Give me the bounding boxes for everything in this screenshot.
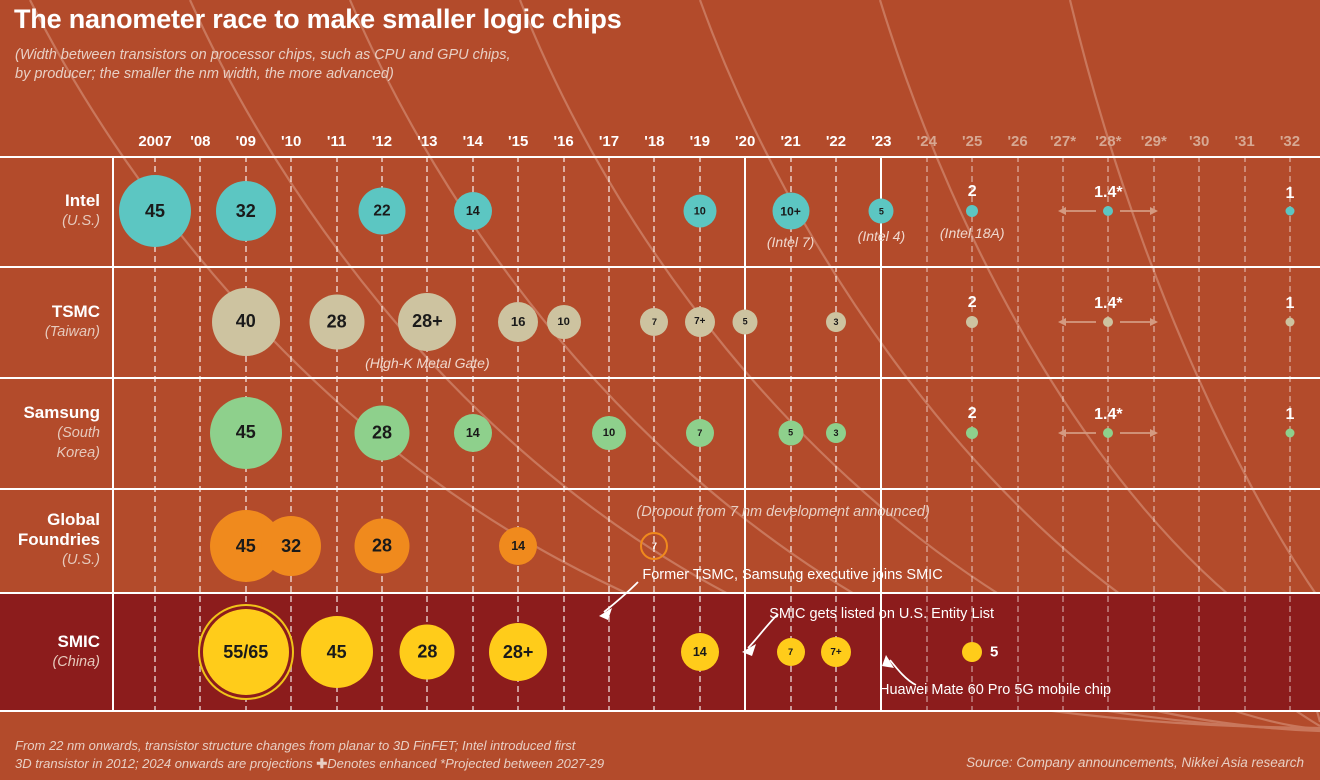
bubble-value: 7 — [652, 541, 657, 551]
bubble-value: 28 — [372, 536, 392, 557]
bubble-samsung-2025[interactable] — [966, 427, 978, 439]
row-label-intel: Intel(U.S.) — [0, 191, 100, 231]
year-tick-2014: '14 — [463, 133, 483, 150]
bubble-samsung-2021[interactable]: 5 — [778, 420, 803, 445]
bubble-value-top: 2 — [968, 183, 977, 201]
row-divider-3 — [0, 488, 1320, 490]
bubble-tsmc-2013[interactable]: 28+ — [398, 293, 456, 351]
gridline-2018 — [653, 156, 655, 712]
bubble-tsmc-2032[interactable] — [1286, 317, 1295, 326]
bubble-smic-2022[interactable]: 7+ — [821, 637, 851, 667]
year-tick-2020: '20 — [735, 133, 755, 150]
bubble-value: 28 — [417, 642, 437, 663]
source-credit: Source: Company announcements, Nikkei As… — [966, 755, 1304, 770]
year-axis: 2007'08'09'10'11'12'13'14'15'16'17'18'19… — [0, 133, 1320, 157]
bubble-value: 28 — [372, 422, 392, 443]
row-label-samsung: Samsung(SouthKorea) — [0, 403, 100, 463]
bubble-samsung-2032[interactable] — [1286, 428, 1295, 437]
bubble-smic-2011[interactable]: 45 — [301, 616, 373, 688]
producer-region: (Taiwan) — [0, 322, 100, 342]
year-tick-2013: '13 — [417, 133, 437, 150]
footnote-line-1: From 22 nm onwards, transistor structure… — [15, 737, 604, 755]
bubble-value: 7+ — [694, 316, 705, 327]
row-divider-2 — [0, 377, 1320, 379]
year-tick-2009: '09 — [236, 133, 256, 150]
year-tick-2024: '24 — [917, 133, 937, 150]
producer-region: (China) — [0, 652, 100, 672]
bubble-samsung-2017[interactable]: 10 — [592, 416, 626, 450]
bubble-caption: (Intel 7) — [767, 234, 814, 250]
row-divider-5 — [0, 710, 1320, 712]
bubble-value: 14 — [511, 539, 525, 553]
producer-region: Korea) — [0, 443, 100, 463]
page-title: The nanometer race to make smaller logic… — [14, 4, 622, 35]
bubble-samsung-2009[interactable]: 45 — [210, 397, 282, 469]
producer-region: (South — [0, 423, 100, 443]
bubble-tsmc-2011[interactable]: 28 — [309, 294, 364, 349]
subtitle-line-1: (Width between transistors on processor … — [15, 46, 511, 65]
bubble-caption: (Intel 18A) — [940, 225, 1005, 241]
bubble-value-top: 1.4* — [1094, 295, 1122, 313]
bubble-intel-2021[interactable]: 10+ — [772, 193, 809, 230]
year-tick-2027: '27* — [1050, 133, 1076, 150]
year-tick-2030: '30 — [1189, 133, 1209, 150]
gridline-2024 — [926, 156, 928, 712]
producer-name: Foundries — [0, 530, 100, 550]
bubble-tsmc-2009[interactable]: 40 — [212, 288, 280, 356]
annotation-entity-list: SMIC gets listed on U.S. Entity List — [769, 606, 994, 622]
producer-name: Samsung — [0, 403, 100, 423]
bubble-value: 28+ — [503, 642, 534, 663]
bubble-value: 55/65 — [223, 642, 268, 663]
bubble-global-foundries-2018[interactable]: 7 — [640, 532, 668, 560]
bubble-samsung-2028[interactable] — [1103, 428, 1113, 438]
year-tick-2010: '10 — [281, 133, 301, 150]
bubble-intel-2032[interactable] — [1286, 207, 1295, 216]
bubble-global-foundries-2010[interactable]: 32 — [261, 516, 321, 576]
bubble-smic-2019[interactable]: 14 — [681, 633, 719, 671]
gridline-2026 — [1017, 156, 1019, 712]
bubble-intel-2012[interactable]: 22 — [359, 188, 406, 235]
year-tick-2015: '15 — [508, 133, 528, 150]
bubble-value-top: 1 — [1286, 295, 1295, 313]
separator-line-1 — [744, 156, 746, 712]
year-tick-2017: '17 — [599, 133, 619, 150]
bubble-value: 28+ — [412, 311, 443, 332]
gridline-2030 — [1198, 156, 1200, 712]
year-tick-2008: '08 — [190, 133, 210, 150]
year-tick-2019: '19 — [690, 133, 710, 150]
bubble-value: 7+ — [830, 647, 841, 658]
bubble-value: 3 — [833, 428, 838, 438]
footnote-line-2: 3D transistor in 2012; 2024 onwards are … — [15, 755, 604, 773]
bubble-intel-2025[interactable] — [966, 205, 978, 217]
bubble-smic-2013[interactable]: 28 — [400, 625, 455, 680]
bubble-intel-2007[interactable]: 45 — [119, 175, 191, 247]
bubble-tsmc-2025[interactable] — [966, 316, 978, 328]
footnote: From 22 nm onwards, transistor structure… — [15, 737, 604, 773]
bubble-value: 45 — [236, 536, 256, 557]
bubble-value: 22 — [373, 202, 390, 220]
year-tick-2016: '16 — [553, 133, 573, 150]
bubble-value: 45 — [236, 422, 256, 443]
row-label-global-foundries: GlobalFoundries(U.S.) — [0, 510, 100, 570]
year-tick-2029: '29* — [1141, 133, 1167, 150]
bubble-value-right: 5 — [990, 644, 998, 661]
bubble-value: 14 — [693, 645, 707, 659]
bubble-tsmc-2016[interactable]: 10 — [547, 305, 581, 339]
gridline-2031 — [1244, 156, 1246, 712]
year-tick-2031: '31 — [1234, 133, 1254, 150]
bubble-tsmc-2019[interactable]: 7+ — [685, 307, 715, 337]
year-tick-2012: '12 — [372, 133, 392, 150]
bubble-value: 32 — [236, 201, 256, 222]
bubble-tsmc-2022[interactable]: 3 — [826, 312, 846, 332]
bubble-smic-2025[interactable] — [962, 642, 982, 662]
chart-grid: Intel(U.S.)TSMC(Taiwan)Samsung(SouthKore… — [0, 156, 1320, 712]
plus-icon: ✚ — [316, 756, 327, 771]
row-label-smic: SMIC(China) — [0, 632, 100, 672]
bubble-value: 14 — [466, 204, 480, 218]
bubble-value-top: 1 — [1286, 185, 1295, 203]
year-tick-2022: '22 — [826, 133, 846, 150]
bubble-value: 10+ — [780, 204, 801, 218]
bubble-value: 7 — [652, 317, 657, 327]
bubble-caption: (Intel 4) — [858, 228, 905, 244]
subtitle-line-2: by producer; the smaller the nm width, t… — [15, 65, 511, 84]
row-divider-0 — [0, 156, 1320, 158]
bubble-value: 3 — [833, 317, 838, 327]
bubble-intel-2028[interactable] — [1103, 206, 1113, 216]
bubble-value-top: 1.4* — [1094, 406, 1122, 424]
producer-name: TSMC — [0, 302, 100, 322]
bubble-value: 10 — [694, 205, 706, 217]
bubble-value-top: 1 — [1286, 406, 1295, 424]
infographic-root: The nanometer race to make smaller logic… — [0, 0, 1320, 780]
year-tick-2025: '25 — [962, 133, 982, 150]
year-tick-2028: '28* — [1095, 133, 1121, 150]
bubble-value: 5 — [743, 317, 748, 327]
year-tick-2021: '21 — [780, 133, 800, 150]
bubble-samsung-2019[interactable]: 7 — [686, 419, 714, 447]
row-divider-1 — [0, 266, 1320, 268]
bubble-value: 7 — [697, 428, 702, 438]
bubble-value: 5 — [879, 206, 884, 216]
producer-name: Intel — [0, 191, 100, 211]
footnote-line-2a: 3D transistor in 2012; 2024 onwards are … — [15, 756, 313, 771]
bubble-tsmc-2015[interactable]: 16 — [498, 302, 538, 342]
bubble-value: 32 — [281, 536, 301, 557]
bubble-intel-2019[interactable]: 10 — [683, 195, 716, 228]
annotation-dropout: (Dropout from 7 nm development announced… — [636, 504, 929, 520]
year-tick-2023: '23 — [871, 133, 891, 150]
footnote-line-2b: Denotes enhanced — [327, 756, 436, 771]
separator-line-0 — [112, 156, 114, 712]
bubble-value: 40 — [236, 311, 256, 332]
bubble-value: 10 — [603, 427, 615, 439]
bubble-value: 28 — [327, 311, 347, 332]
row-band-smic — [0, 592, 1320, 712]
bubble-value: 16 — [511, 314, 526, 329]
producer-name: Global — [0, 510, 100, 530]
year-tick-2007: 2007 — [138, 133, 171, 150]
bubble-intel-2014[interactable]: 14 — [454, 192, 492, 230]
bubble-value: 7 — [788, 647, 793, 657]
bubble-samsung-2022[interactable]: 3 — [826, 423, 846, 443]
bubble-samsung-2012[interactable]: 28 — [355, 405, 410, 460]
bubble-intel-2009[interactable]: 32 — [216, 181, 276, 241]
bubble-intel-2023[interactable]: 5 — [869, 199, 894, 224]
bubble-samsung-2014[interactable]: 14 — [454, 414, 492, 452]
bubble-smic-2021[interactable]: 7 — [777, 638, 805, 666]
row-divider-4 — [0, 592, 1320, 594]
year-tick-2018: '18 — [644, 133, 664, 150]
page-subtitle: (Width between transistors on processor … — [15, 46, 511, 84]
bubble-value: 5 — [788, 428, 793, 438]
producer-region: (U.S.) — [0, 550, 100, 570]
footnote-line-2c: *Projected between 2027-29 — [440, 756, 604, 771]
producer-name: SMIC — [0, 632, 100, 652]
row-label-tsmc: TSMC(Taiwan) — [0, 302, 100, 342]
year-tick-2032: '32 — [1280, 133, 1300, 150]
bubble-smic-2009[interactable]: 55/65 — [203, 609, 289, 695]
bubble-global-foundries-2015[interactable]: 14 — [499, 527, 537, 565]
annotation-huawei-chip: Huawei Mate 60 Pro 5G mobile chip — [879, 682, 1111, 698]
bubble-caption: (High-K Metal Gate) — [365, 355, 489, 371]
gridline-2016 — [563, 156, 565, 712]
bubble-smic-2015[interactable]: 28+ — [489, 623, 547, 681]
bubble-value: 10 — [557, 316, 569, 328]
gridline-2008 — [199, 156, 201, 712]
bubble-value: 45 — [327, 642, 347, 663]
year-tick-2011: '11 — [327, 133, 346, 150]
bubble-value-top: 2 — [968, 405, 977, 423]
bubble-value-top: 1.4* — [1094, 184, 1122, 202]
bubble-global-foundries-2012[interactable]: 28 — [355, 519, 410, 574]
year-tick-2026: '26 — [1007, 133, 1027, 150]
bubble-tsmc-2020[interactable]: 5 — [733, 309, 758, 334]
bubble-value: 14 — [466, 426, 480, 440]
gridline-2010 — [290, 156, 292, 712]
bubble-tsmc-2018[interactable]: 7 — [640, 308, 668, 336]
bubble-value-top: 2 — [968, 294, 977, 312]
bubble-tsmc-2028[interactable] — [1103, 317, 1113, 327]
annotation-former-executive: Former TSMC, Samsung executive joins SMI… — [642, 567, 942, 583]
bubble-value: 45 — [145, 201, 165, 222]
producer-region: (U.S.) — [0, 211, 100, 231]
